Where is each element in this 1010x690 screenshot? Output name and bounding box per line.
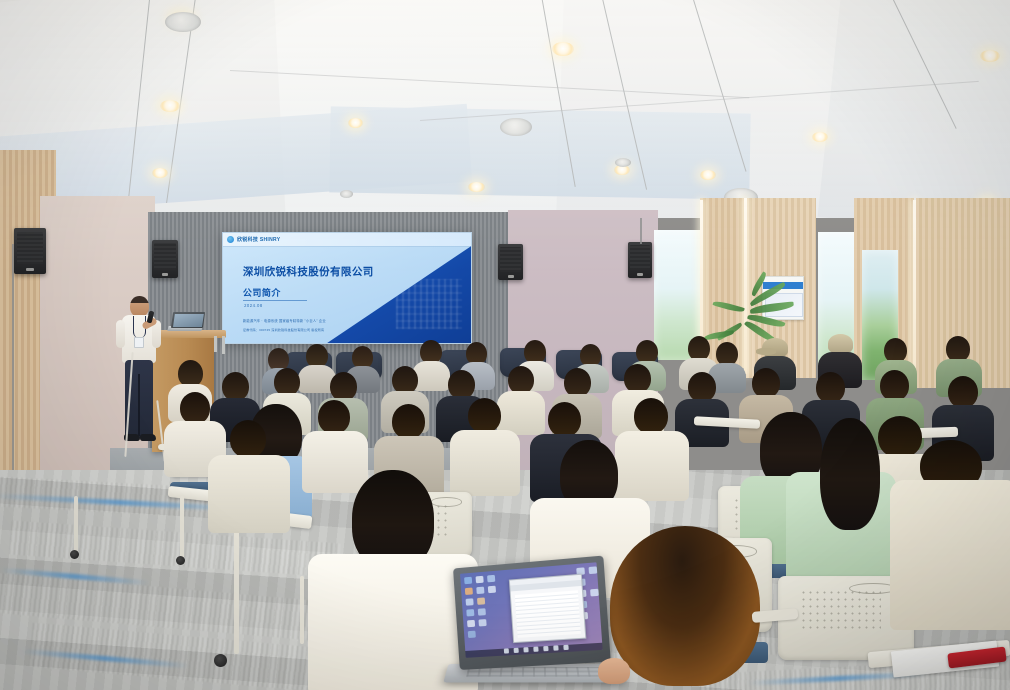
speaker-badge <box>637 273 643 276</box>
ceiling-downlight <box>552 42 574 56</box>
ceiling-speaker <box>500 118 532 136</box>
chair-handle <box>431 497 462 506</box>
company-logo-icon <box>227 236 234 243</box>
laptop-screen[interactable] <box>460 562 603 658</box>
slide-subtitle: 公司简介 <box>243 286 281 299</box>
speaker-badge <box>26 268 34 272</box>
laptop-spreadsheet-grid[interactable] <box>515 590 581 638</box>
speaker-grille <box>17 232 43 264</box>
slide-title: 深圳欣锐科技股份有限公司 <box>243 264 374 279</box>
presenter-head <box>130 296 149 317</box>
user-hand <box>598 658 630 684</box>
presentation-slide: 欣锐科技 SHINRY 深圳欣锐科技股份有限公司 公司简介 2024.08 新能… <box>223 233 471 343</box>
speaker-grille <box>630 245 650 270</box>
conference-room-scene: 欣锐科技 SHINRY 深圳欣锐科技股份有限公司 公司简介 2024.08 新能… <box>0 0 1010 690</box>
person-hair <box>820 418 880 530</box>
smoke-detector <box>340 190 353 198</box>
wall-speaker-left <box>14 228 46 274</box>
chair-caster <box>176 556 185 565</box>
ceiling-downlight <box>468 182 485 192</box>
ceiling-speaker <box>165 12 201 32</box>
laptop-app-window[interactable] <box>509 574 587 643</box>
ceiling-downlight <box>700 170 716 180</box>
chair-perforation <box>800 589 882 632</box>
ceiling <box>0 0 1010 218</box>
podium-laptop-screen <box>171 312 205 328</box>
person-torso <box>890 480 1010 630</box>
wall-speaker-center-left <box>152 240 178 278</box>
person-hair <box>610 526 760 686</box>
attendee-laptop[interactable] <box>446 562 622 690</box>
slide-divider <box>243 300 307 301</box>
laptop-lid <box>453 556 611 670</box>
smoke-detector <box>615 158 631 167</box>
slide-fineprint-line-1: 新能源汽车 · 电源系统 国家级专精特新 "小巨人" 企业 <box>243 318 326 323</box>
ceiling-downlight <box>980 50 1000 62</box>
speaker-badge <box>162 273 168 276</box>
laptop-keyboard[interactable] <box>466 667 601 677</box>
speaker-grille <box>500 247 521 272</box>
projection-screen: 欣锐科技 SHINRY 深圳欣锐科技股份有限公司 公司简介 2024.08 新能… <box>222 232 472 344</box>
company-logo-text: 欣锐科技 SHINRY <box>237 236 280 243</box>
presenter <box>118 296 162 456</box>
ceiling-downlight <box>812 132 828 142</box>
slide-date: 2024.08 <box>244 303 263 308</box>
speaker-grille <box>154 243 175 270</box>
ceiling-downlight <box>348 118 363 128</box>
chair-caster <box>70 550 79 559</box>
chair-caster <box>214 654 227 667</box>
ceiling-downlight <box>160 100 180 112</box>
speaker-cable <box>640 218 642 244</box>
laptop-taskbar[interactable] <box>465 643 602 658</box>
wall-speaker-right <box>628 242 652 278</box>
slide-header-bar: 欣锐科技 SHINRY <box>223 233 471 247</box>
slide-product-artwork <box>396 279 462 329</box>
speaker-cable <box>12 244 14 480</box>
wall-speaker-center-right <box>498 244 523 280</box>
speaker-badge <box>508 275 514 278</box>
slide-diagonal-graphic <box>327 246 471 343</box>
slide-fineprint-line-2: 证券代码：300745 深圳欣锐科技股份有限公司 版权所有 <box>243 327 324 332</box>
ceiling-downlight <box>152 168 168 178</box>
presenter-badge <box>134 337 144 348</box>
